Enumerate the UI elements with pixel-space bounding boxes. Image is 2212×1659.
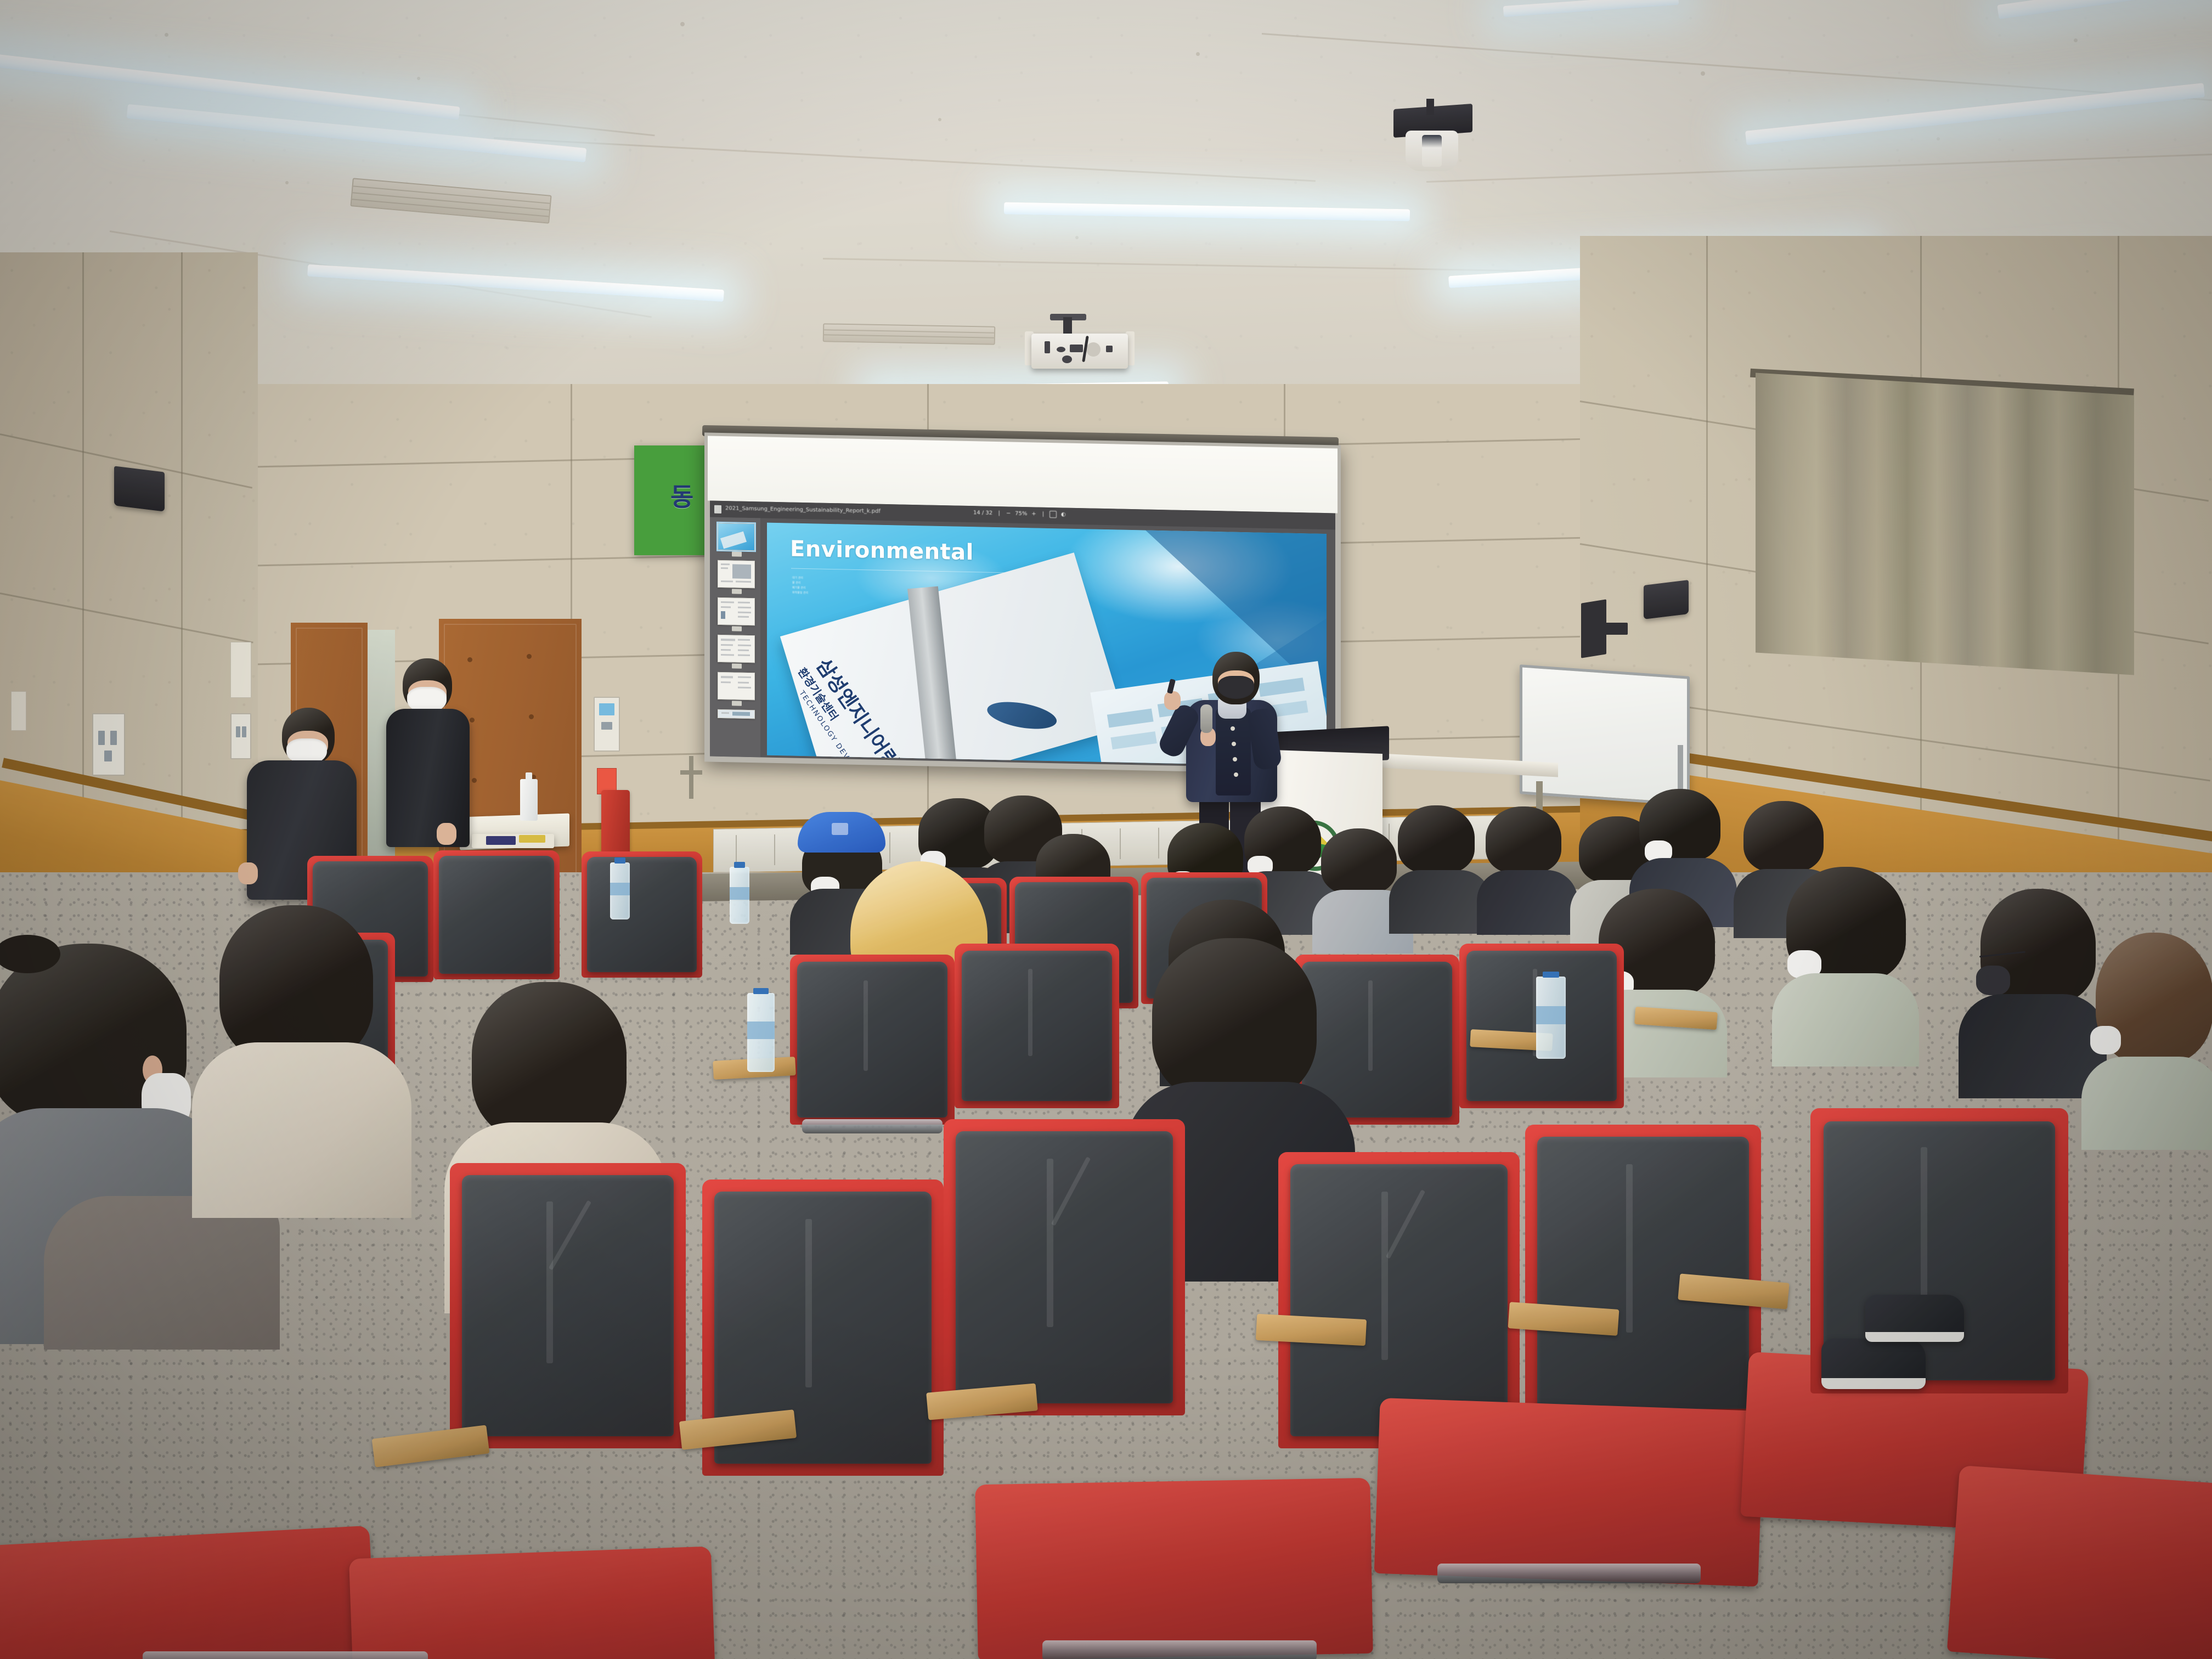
seat[interactable] [450, 1163, 686, 1448]
seat-cushion[interactable] [1947, 1465, 2212, 1659]
auditorium-photo: 동 프로그램 2021_Samsung_Engineering_Sustaina… [0, 0, 2212, 1659]
shoe [1821, 1339, 1926, 1389]
seat[interactable] [1525, 1125, 1761, 1421]
seat-cushion[interactable] [1374, 1398, 1764, 1587]
seat-cushion[interactable] [975, 1478, 1373, 1659]
seat-cushion[interactable] [349, 1547, 715, 1659]
seat-hinge [1437, 1564, 1701, 1583]
seat-hinge [143, 1651, 428, 1659]
seat[interactable] [944, 1119, 1185, 1415]
seat-hinge [1042, 1640, 1317, 1659]
shoe [1865, 1295, 1964, 1342]
seat-cushion[interactable] [0, 1526, 376, 1659]
